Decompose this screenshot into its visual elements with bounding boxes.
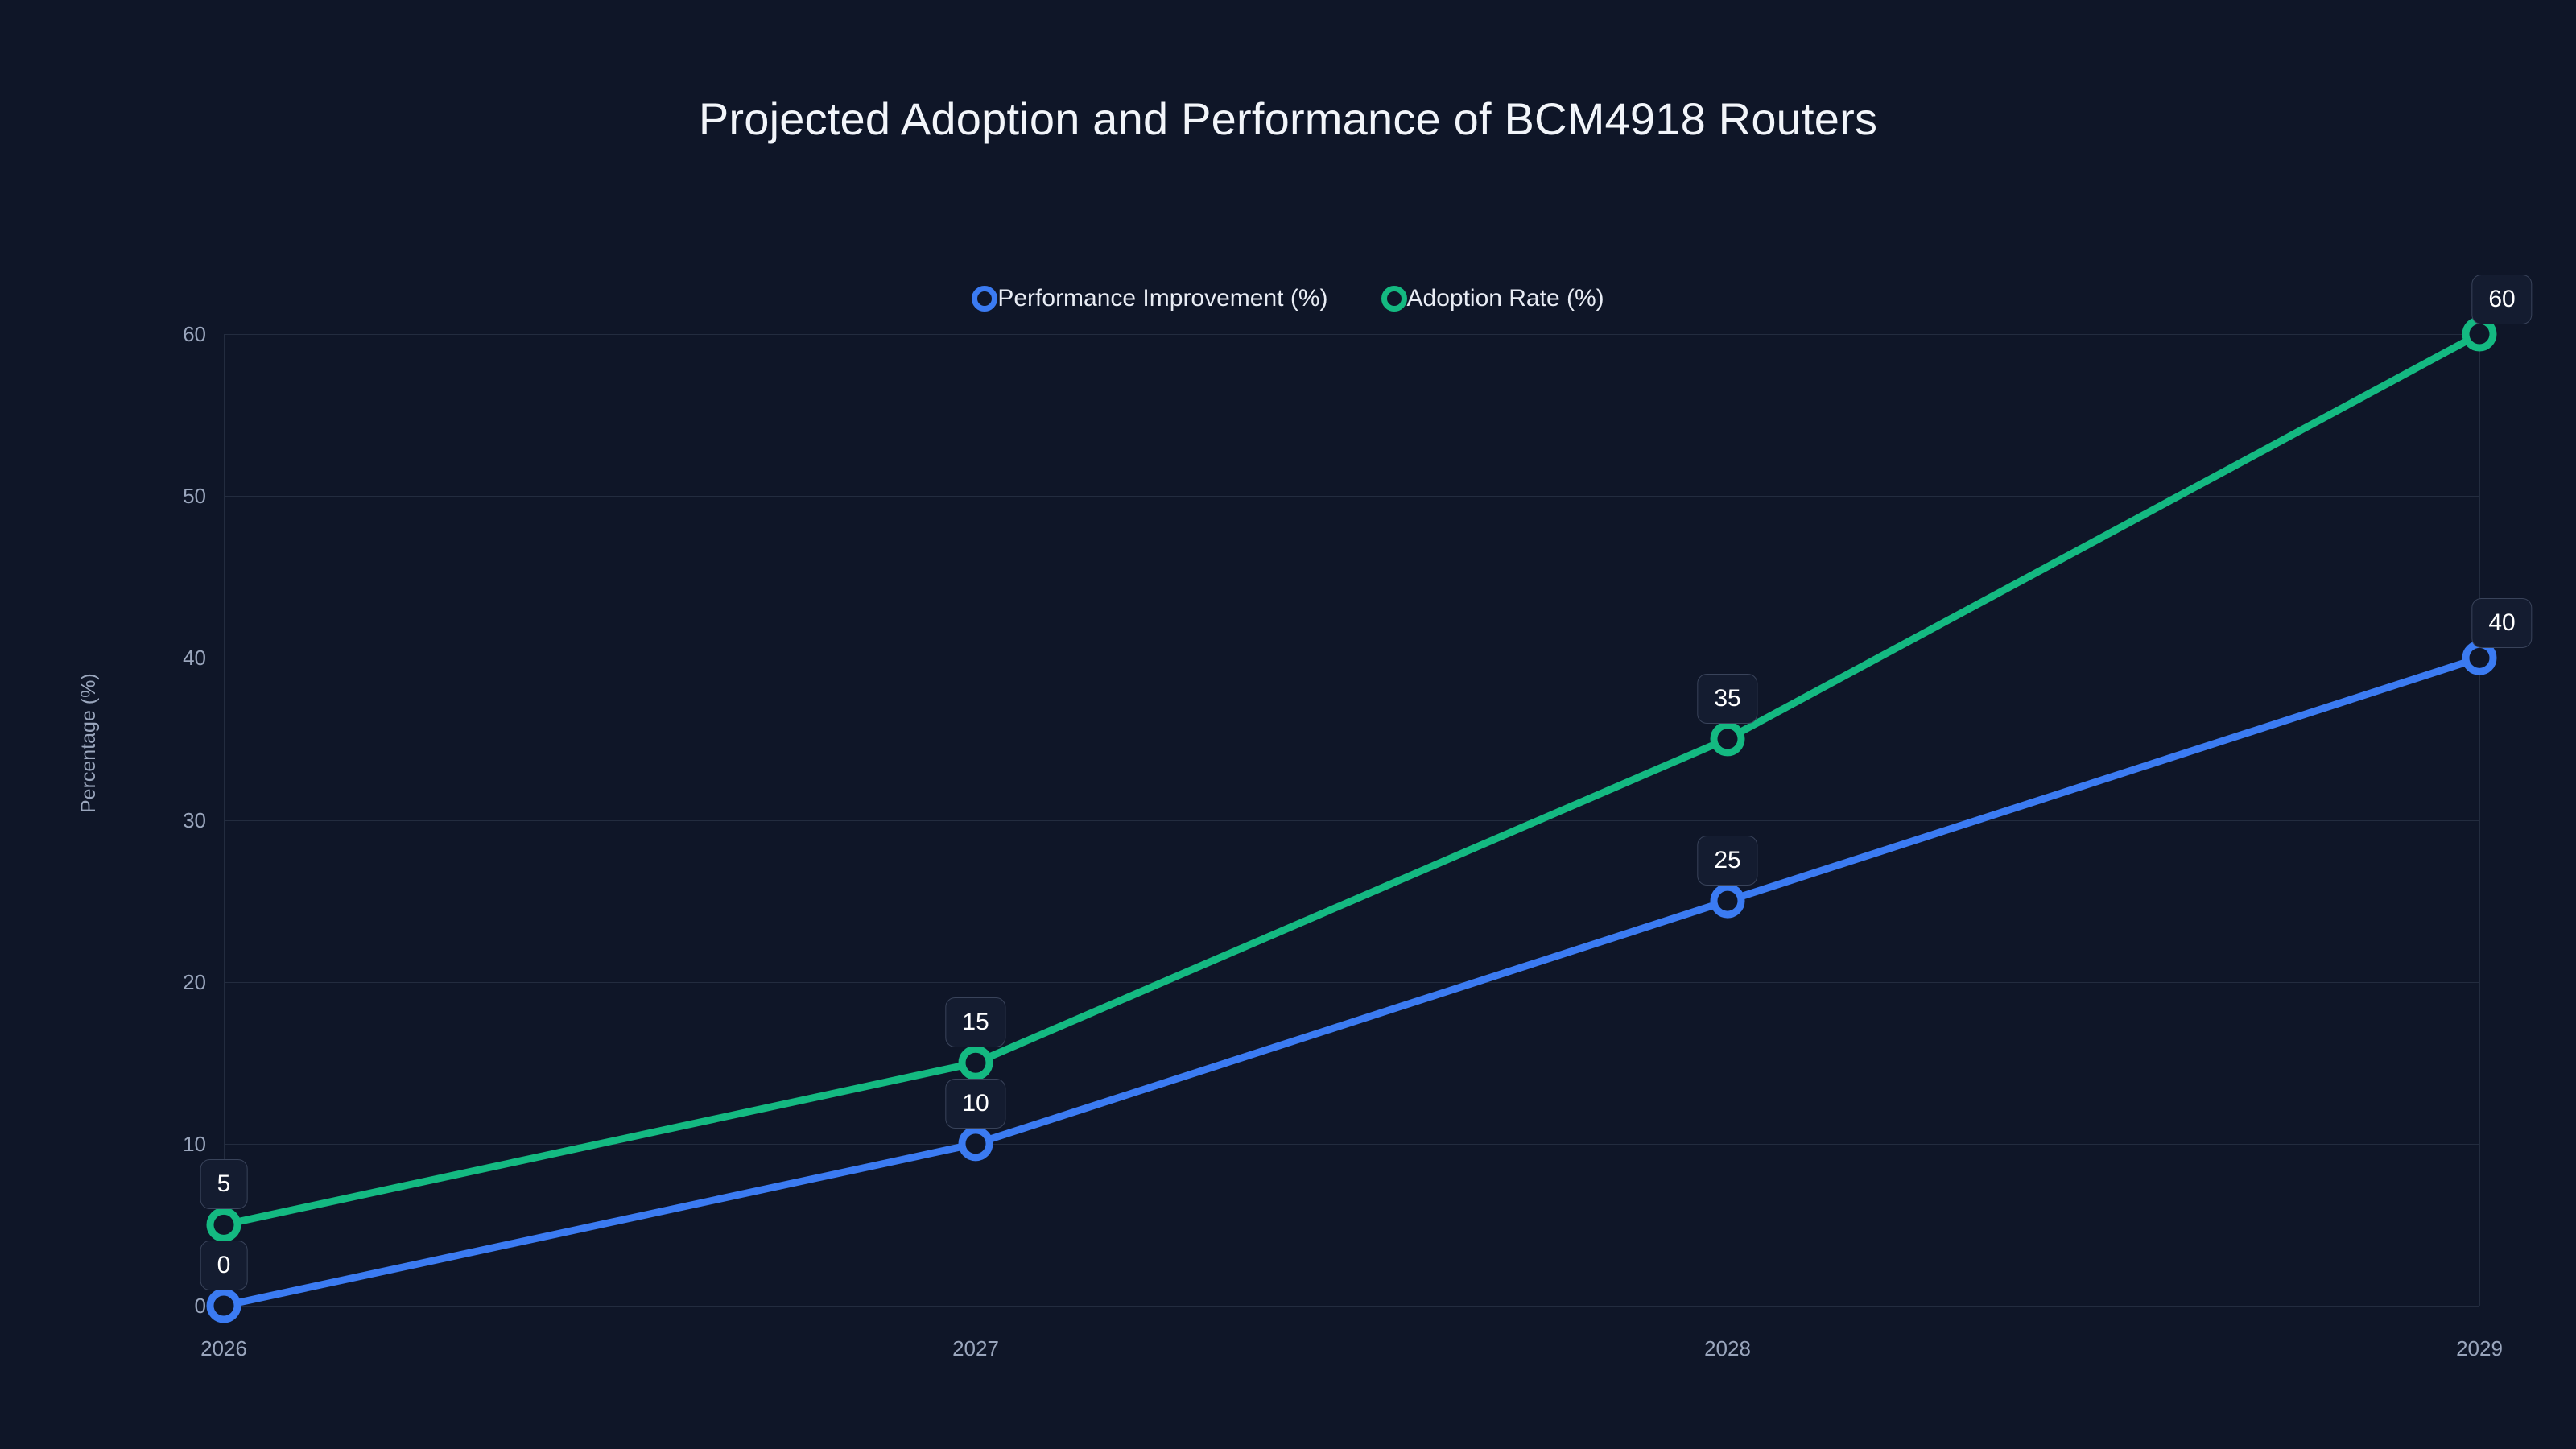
chart-title: Projected Adoption and Performance of BC… bbox=[0, 93, 2576, 145]
gridline-vertical bbox=[1728, 334, 1728, 1306]
plot-area bbox=[224, 334, 2479, 1306]
chart-canvas: Projected Adoption and Performance of BC… bbox=[0, 0, 2576, 1449]
data-point-label: 40 bbox=[2471, 598, 2532, 648]
y-axis-tick-label: 20 bbox=[45, 972, 206, 993]
gridline-horizontal bbox=[224, 1144, 2479, 1145]
data-point-label: 15 bbox=[945, 997, 1005, 1047]
y-axis-tick-label: 50 bbox=[45, 485, 206, 506]
gridline-horizontal bbox=[224, 658, 2479, 658]
x-axis-tick-label: 2026 bbox=[119, 1338, 328, 1359]
legend-item-label: Adoption Rate (%) bbox=[1407, 287, 1604, 311]
gridline-horizontal bbox=[224, 334, 2479, 335]
y-axis-tick-label: 40 bbox=[45, 647, 206, 668]
y-axis-tick-label: 60 bbox=[45, 324, 206, 345]
data-point-label: 5 bbox=[200, 1159, 248, 1209]
gridline-horizontal bbox=[224, 820, 2479, 821]
gridline-horizontal bbox=[224, 982, 2479, 983]
x-axis-tick-label: 2029 bbox=[2375, 1338, 2576, 1359]
x-axis-tick-label: 2028 bbox=[1623, 1338, 1832, 1359]
gridline-vertical bbox=[2479, 334, 2480, 1306]
data-point-label: 60 bbox=[2471, 275, 2532, 324]
data-point-label: 0 bbox=[200, 1241, 248, 1290]
y-axis-tick-label: 30 bbox=[45, 810, 206, 831]
legend-item-performance-improvement[interactable]: Performance Improvement (%) bbox=[972, 286, 1327, 312]
legend-marker-ring-icon bbox=[1381, 286, 1407, 312]
y-axis-title: Percentage (%) bbox=[77, 673, 101, 813]
gridline-horizontal bbox=[224, 1306, 2479, 1307]
legend-marker-ring-icon bbox=[972, 286, 997, 312]
gridline-vertical bbox=[976, 334, 976, 1306]
chart-legend: Performance Improvement (%) Adoption Rat… bbox=[0, 286, 2576, 312]
gridline-horizontal bbox=[224, 496, 2479, 497]
legend-item-adoption-rate[interactable]: Adoption Rate (%) bbox=[1381, 286, 1604, 312]
data-point-label: 25 bbox=[1697, 836, 1757, 885]
data-point-label: 35 bbox=[1697, 674, 1757, 724]
x-axis-tick-label: 2027 bbox=[871, 1338, 1080, 1359]
y-axis-tick-label: 10 bbox=[45, 1133, 206, 1154]
data-point-label: 10 bbox=[945, 1079, 1005, 1129]
y-axis-tick-label: 0 bbox=[45, 1295, 206, 1316]
legend-item-label: Performance Improvement (%) bbox=[997, 287, 1327, 311]
